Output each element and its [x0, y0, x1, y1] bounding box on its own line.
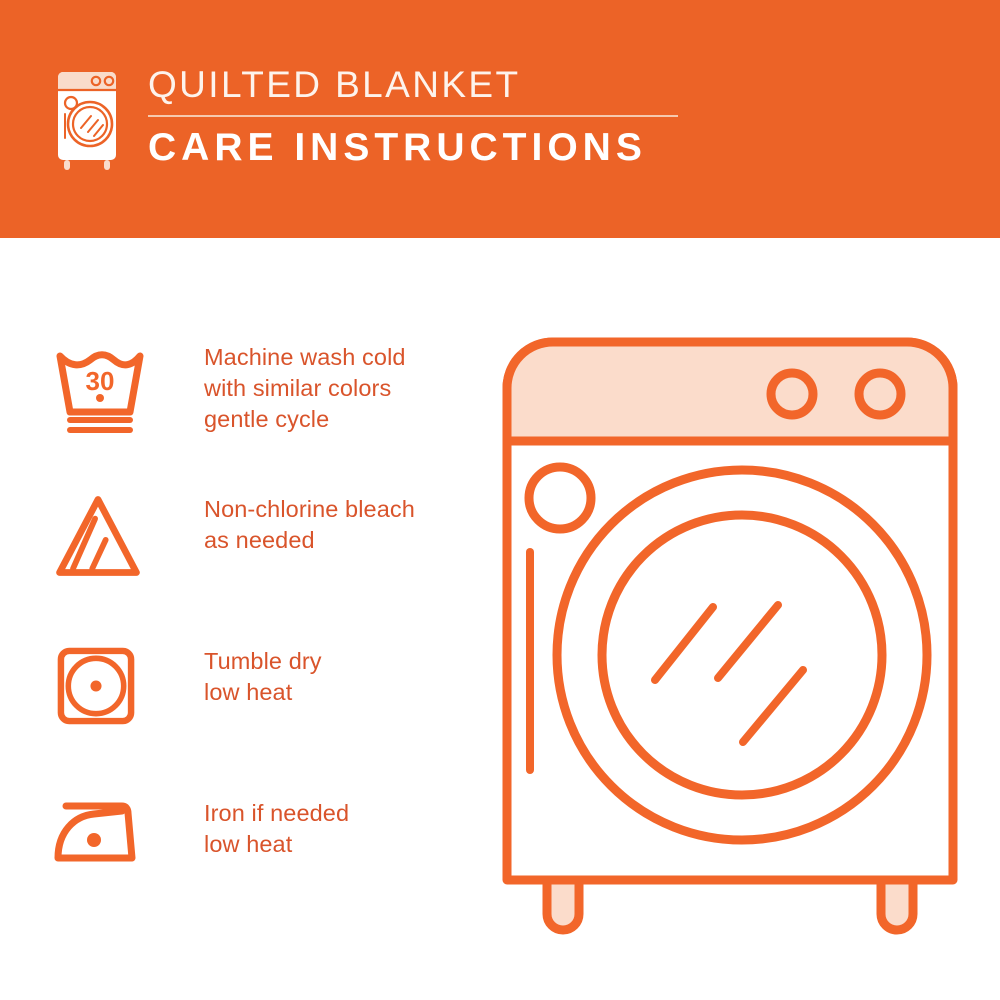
title-block: QUILTED BLANKET CARE INSTRUCTIONS: [148, 62, 678, 167]
care-text-line: Tumble dry: [204, 646, 322, 677]
page-title-secondary: CARE INSTRUCTIONS: [148, 128, 678, 167]
tumble-dry-low-icon: [48, 634, 160, 734]
care-text-line: gentle cycle: [204, 404, 406, 435]
care-text-line: Iron if needed: [204, 798, 349, 829]
care-text: Iron if needed low heat: [160, 786, 349, 860]
care-text-line: with similar colors: [204, 373, 406, 404]
care-text: Tumble dry low heat: [160, 634, 322, 708]
care-row: 30 Machine wash cold with similar colors…: [48, 330, 478, 482]
care-text: Machine wash cold with similar colors ge…: [160, 330, 406, 435]
care-instructions-page: QUILTED BLANKET CARE INSTRUCTIONS 30 Mac…: [0, 0, 1000, 1000]
care-text: Non-chlorine bleach as needed: [160, 482, 415, 556]
care-text-line: low heat: [204, 677, 322, 708]
care-text-line: as needed: [204, 525, 415, 556]
non-chlorine-bleach-icon: [48, 482, 160, 586]
care-row: Tumble dry low heat: [48, 634, 478, 786]
page-title-primary: QUILTED BLANKET: [148, 66, 678, 103]
iron-low-icon: [48, 786, 160, 870]
care-row: Iron if needed low heat: [48, 786, 478, 938]
care-row: Non-chlorine bleach as needed: [48, 482, 478, 634]
care-text-line: low heat: [204, 829, 349, 860]
washing-machine-icon: [48, 62, 126, 174]
title-divider: [148, 115, 678, 117]
care-text-line: Non-chlorine bleach: [204, 494, 415, 525]
care-instruction-list: 30 Machine wash cold with similar colors…: [48, 330, 478, 938]
care-text-line: Machine wash cold: [204, 342, 406, 373]
machine-wash-30-gentle-icon: 30: [48, 330, 160, 438]
header-banner: QUILTED BLANKET CARE INSTRUCTIONS: [0, 0, 1000, 238]
leg-left: [547, 880, 579, 930]
header-content: QUILTED BLANKET CARE INSTRUCTIONS: [48, 62, 678, 174]
control-panel: [507, 342, 953, 441]
wash-temperature-label: 30: [86, 366, 115, 396]
washing-machine-illustration: [495, 330, 965, 940]
leg-right: [881, 880, 913, 930]
